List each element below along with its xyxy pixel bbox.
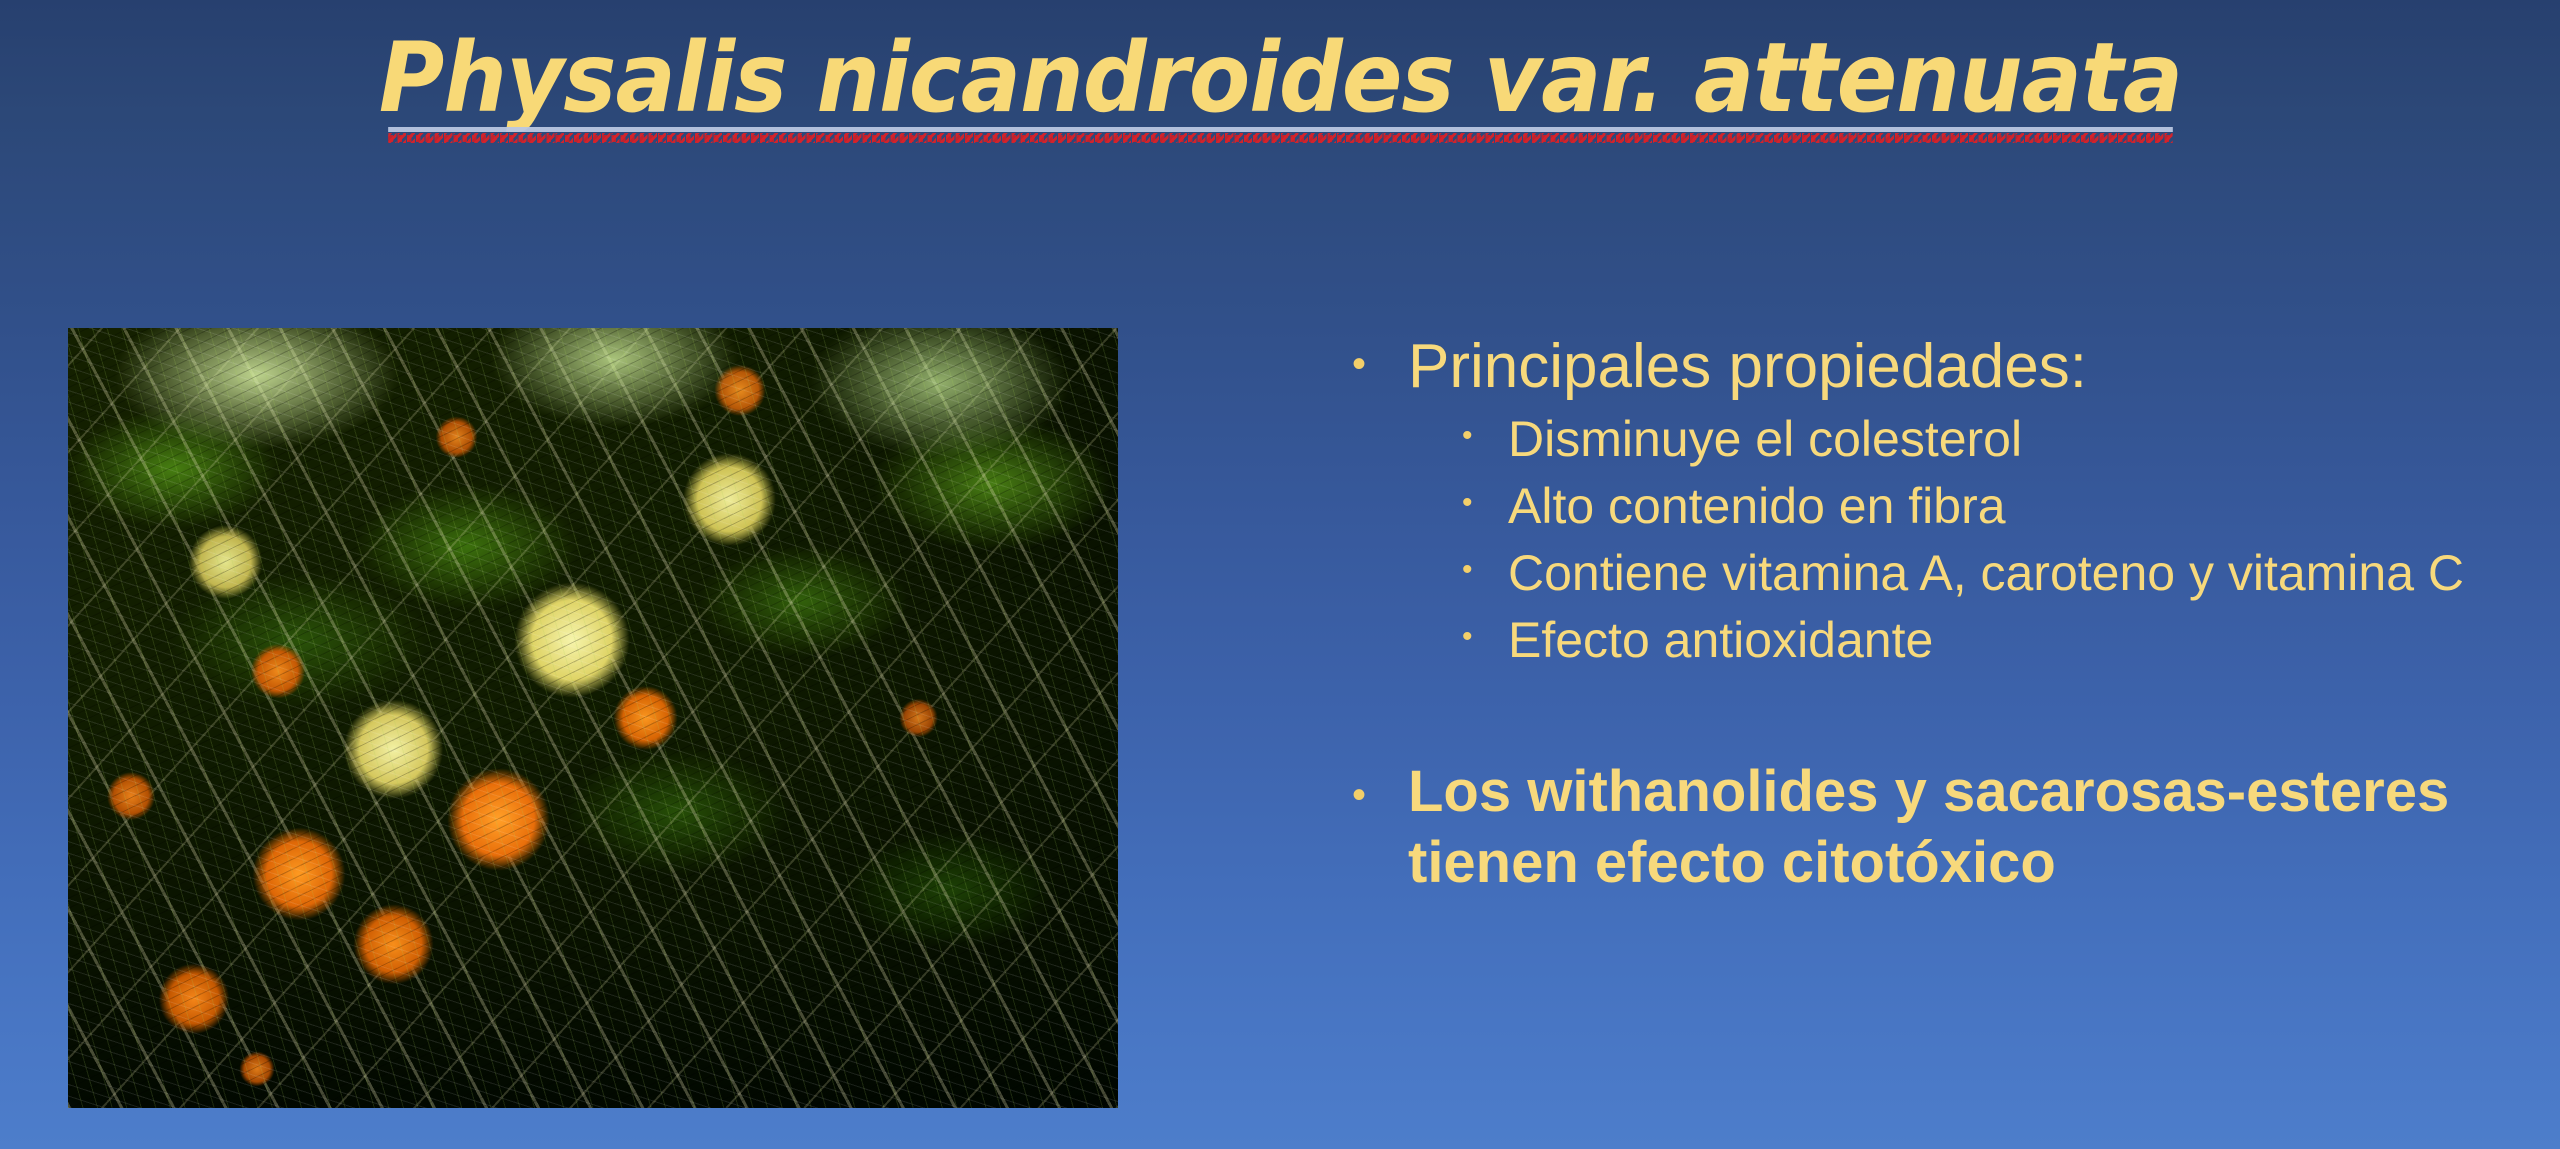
- sub-bullet-label: Contiene vitamina A, caroteno y vitamina…: [1508, 541, 2464, 606]
- title-label: Physalis nicandroides var. attenuata: [378, 22, 2181, 134]
- main-bullet-label: Principales propiedades:: [1408, 330, 2087, 403]
- list-item-sub-1: • Disminuye el colesterol: [1462, 407, 2532, 472]
- presentation-slide: Physalis nicandroides var. attenuata • P…: [0, 0, 2560, 1149]
- list-item-sub-4: • Efecto antioxidante: [1462, 608, 2532, 673]
- list-item-sub-2: • Alto contenido en fibra: [1462, 474, 2532, 539]
- list-item-main: • Principales propiedades:: [1352, 330, 2532, 403]
- spellcheck-squiggle-icon: [388, 133, 2173, 143]
- closing-statement-label: Los withanolides y sacarosas-esteres tie…: [1408, 757, 2468, 899]
- bullet-icon: •: [1352, 757, 1408, 815]
- page-title: Physalis nicandroides var. attenuata: [378, 28, 2181, 143]
- bullet-icon: •: [1462, 541, 1508, 585]
- bullet-icon: •: [1462, 474, 1508, 518]
- sub-bullet-label: Efecto antioxidante: [1508, 608, 1933, 673]
- physalis-photo-image: [68, 328, 1118, 1108]
- list-item-sub-3: • Contiene vitamina A, caroteno y vitami…: [1462, 541, 2532, 606]
- bullet-icon: •: [1462, 407, 1508, 451]
- title-underline: [388, 127, 2173, 132]
- physalis-photo: [68, 328, 1118, 1108]
- spellcheck-squiggle-base: [388, 135, 2173, 142]
- bullet-icon: •: [1462, 608, 1508, 652]
- slide-title-block: Physalis nicandroides var. attenuata: [0, 28, 2560, 143]
- list-item-closing: • Los withanolides y sacarosas-esteres t…: [1352, 757, 2532, 899]
- slide-body: • Principales propiedades: • Disminuye e…: [1352, 330, 2532, 903]
- sub-bullet-label: Disminuye el colesterol: [1508, 407, 2022, 472]
- sub-bullet-label: Alto contenido en fibra: [1508, 474, 2006, 539]
- bullet-icon: •: [1352, 330, 1408, 384]
